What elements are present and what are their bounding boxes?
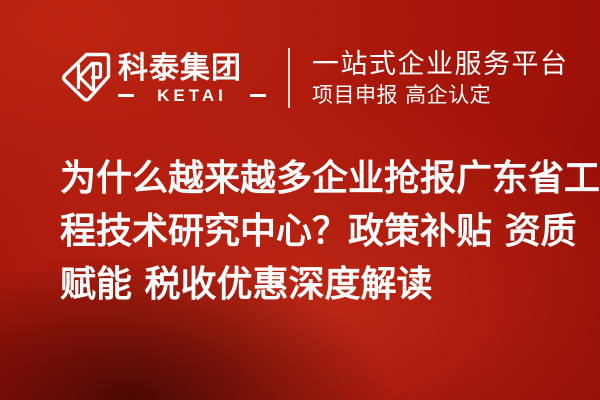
headline-line-2: 程技术研究中心？政策补贴 资质 bbox=[60, 205, 560, 258]
banner-header: 科泰集团 KETAI 一站式企业服务平台 项目申报 高企认定 bbox=[60, 46, 569, 110]
brand-rule-right-icon bbox=[250, 94, 266, 97]
brand-logo[interactable]: 科泰集团 KETAI bbox=[60, 50, 266, 106]
slogan-primary: 一站式企业服务平台 bbox=[312, 49, 569, 80]
headline: 为什么越来越多企业抢报广东省工 程技术研究中心？政策补贴 资质 赋能 税收优惠深… bbox=[60, 152, 560, 311]
slogan-secondary: 项目申报 高企认定 bbox=[312, 84, 569, 107]
brand-name-latin: KETAI bbox=[134, 87, 250, 104]
headline-line-3: 赋能 税收优惠深度解读 bbox=[60, 258, 560, 311]
brand-latin-row: KETAI bbox=[118, 87, 266, 104]
promo-banner: 科泰集团 KETAI 一站式企业服务平台 项目申报 高企认定 为什么越来越多企业… bbox=[0, 0, 600, 400]
slogan-block: 一站式企业服务平台 项目申报 高企认定 bbox=[312, 49, 569, 107]
brand-name-cn: 科泰集团 bbox=[118, 53, 266, 84]
brand-rule-left-icon bbox=[118, 94, 134, 97]
ketai-diamond-kt-monogram-icon bbox=[60, 50, 112, 106]
brand-wordmark: 科泰集团 KETAI bbox=[118, 53, 266, 104]
headline-line-1: 为什么越来越多企业抢报广东省工 bbox=[60, 152, 560, 205]
header-vertical-divider bbox=[288, 48, 290, 108]
